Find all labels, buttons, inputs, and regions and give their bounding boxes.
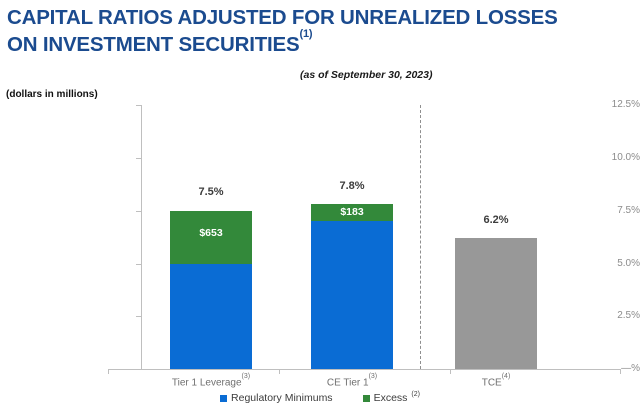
bar-segment-excess-ce-tier1[interactable]: $183 (311, 204, 393, 221)
y-axis-tick-mark (136, 264, 141, 265)
bar-segment-regulatory-minimums-ce-tier1[interactable] (311, 221, 393, 369)
legend-swatch-green-icon (363, 395, 370, 402)
legend-label-regulatory-minimums: Regulatory Minimums (231, 392, 333, 404)
y-axis-tick-mark (136, 105, 141, 106)
x-axis-tick-mark (450, 369, 451, 374)
y-axis-tick-mark (136, 211, 141, 212)
y-axis-line (141, 105, 142, 370)
legend-item-regulatory-minimums[interactable]: Regulatory Minimums (220, 392, 337, 404)
x-axis-category-tier1-leverage: Tier 1 Leverage(3) (140, 376, 282, 388)
slide-root: CAPITAL RATIOS ADJUSTED FOR UNREALIZED L… (0, 0, 640, 409)
legend-item-excess[interactable]: Excess(2) (363, 392, 420, 404)
y-axis-label-7_5: 7.5% (544, 206, 640, 216)
x-axis-category-tier1-leverage-text: Tier 1 Leverage (172, 377, 242, 388)
y-axis-label-12_5: 12.5% (544, 100, 640, 110)
legend-footnote-excess: (2) (411, 391, 420, 398)
x-axis-tick-mark (279, 369, 280, 374)
x-axis-category-tce-text: TCE (482, 377, 502, 388)
bar-total-label-tce: 6.2% (455, 214, 537, 226)
x-axis-category-tier1-leverage-footnote: (3) (242, 373, 251, 380)
x-axis-category-ce-tier1: CE Tier 1(3) (281, 376, 423, 388)
bar-segment-regulatory-minimums-tier1-leverage[interactable] (170, 264, 252, 369)
y-axis-tick-mark (136, 316, 141, 317)
y-axis-tick-mark (136, 158, 141, 159)
bar-segment-value-excess-ce-tier1: $183 (311, 206, 393, 218)
section-divider-dashed (420, 105, 421, 369)
x-axis-category-tce-footnote: (4) (502, 373, 511, 380)
x-axis-category-ce-tier1-footnote: (3) (369, 373, 378, 380)
y-axis-label-10_0: 10.0% (544, 153, 640, 163)
legend-label-excess: Excess (374, 392, 408, 404)
y-axis-label-5_0: 5.0% (544, 259, 640, 269)
y-axis-label-2_5: 2.5% (544, 311, 640, 321)
bar-segment-value-excess-tier1-leverage: $653 (170, 227, 252, 239)
x-axis-tick-mark (108, 369, 109, 374)
x-axis-tick-mark (620, 369, 621, 374)
bar-segment-excess-tier1-leverage[interactable]: $653 (170, 211, 252, 264)
bar-total-label-ce-tier1: 7.8% (311, 180, 393, 192)
chart-legend: Regulatory Minimums Excess(2) (0, 392, 640, 404)
bar-total-label-tier1-leverage: 7.5% (170, 186, 252, 198)
legend-swatch-blue-icon (220, 395, 227, 402)
x-axis-category-tce: TCE(4) (425, 376, 567, 388)
bar-segment-tce[interactable] (455, 238, 537, 369)
x-axis-category-ce-tier1-text: CE Tier 1 (327, 377, 369, 388)
x-axis-line (108, 369, 620, 370)
chart-plot-area: 12.5% 10.0% 7.5% 5.0% 2.5% —% 7.5% $653 … (0, 0, 640, 409)
